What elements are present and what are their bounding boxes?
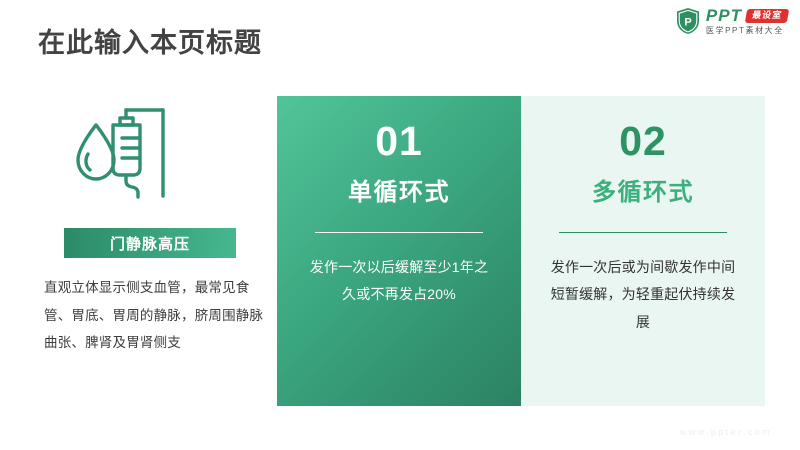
page-title: 在此输入本页标题 [38, 21, 262, 60]
slide-canvas: 在此输入本页标题 P PPT 最设室 医学PPT素材大全 [0, 0, 800, 450]
logo-badge: 最设室 [745, 9, 789, 23]
card-number: 02 [619, 120, 667, 163]
logo-text-block: PPT 最设室 医学PPT素材大全 [706, 7, 788, 35]
card-divider [559, 232, 727, 233]
card-01[interactable]: 01 单循环式 发作一次以后缓解至少1年之久或不再发占20% [277, 96, 521, 406]
shield-icon: P [675, 7, 701, 35]
logo-tagline: 医学PPT素材大全 [706, 27, 788, 35]
cards-container: 01 单循环式 发作一次以后缓解至少1年之久或不再发占20% 02 多循环式 发… [277, 96, 765, 406]
status-badge: 门静脉高压 [64, 228, 236, 258]
card-number: 01 [375, 120, 423, 163]
card-heading: 单循环式 [348, 172, 450, 207]
card-02[interactable]: 02 多循环式 发作一次后或为间歇发作中间短暂缓解，为轻重起伏持续发展 [521, 96, 765, 406]
left-info-panel: 门静脉高压 直观立体显示侧支血管，最常见食管、胃底、胃周的静脉，脐周围静脉曲张、… [44, 96, 264, 357]
iv-drip-blood-icon [44, 96, 264, 204]
svg-text:P: P [684, 16, 691, 28]
card-body-text: 发作一次后或为间歇发作中间短暂缓解，为轻重起伏持续发展 [547, 254, 739, 336]
card-heading: 多循环式 [592, 172, 694, 207]
brand-logo: P PPT 最设室 医学PPT素材大全 [675, 7, 788, 35]
card-divider [315, 232, 483, 233]
site-watermark: www.ppter.com [680, 427, 772, 437]
card-body-text: 发作一次以后缓解至少1年之久或不再发占20% [303, 254, 495, 309]
logo-primary-row: PPT 最设室 [706, 7, 788, 24]
left-body-text: 直观立体显示侧支血管，最常见食管、胃底、胃周的静脉，脐周围静脉曲张、脾肾及胃肾侧… [44, 274, 269, 357]
logo-brand-text: PPT [706, 7, 742, 24]
